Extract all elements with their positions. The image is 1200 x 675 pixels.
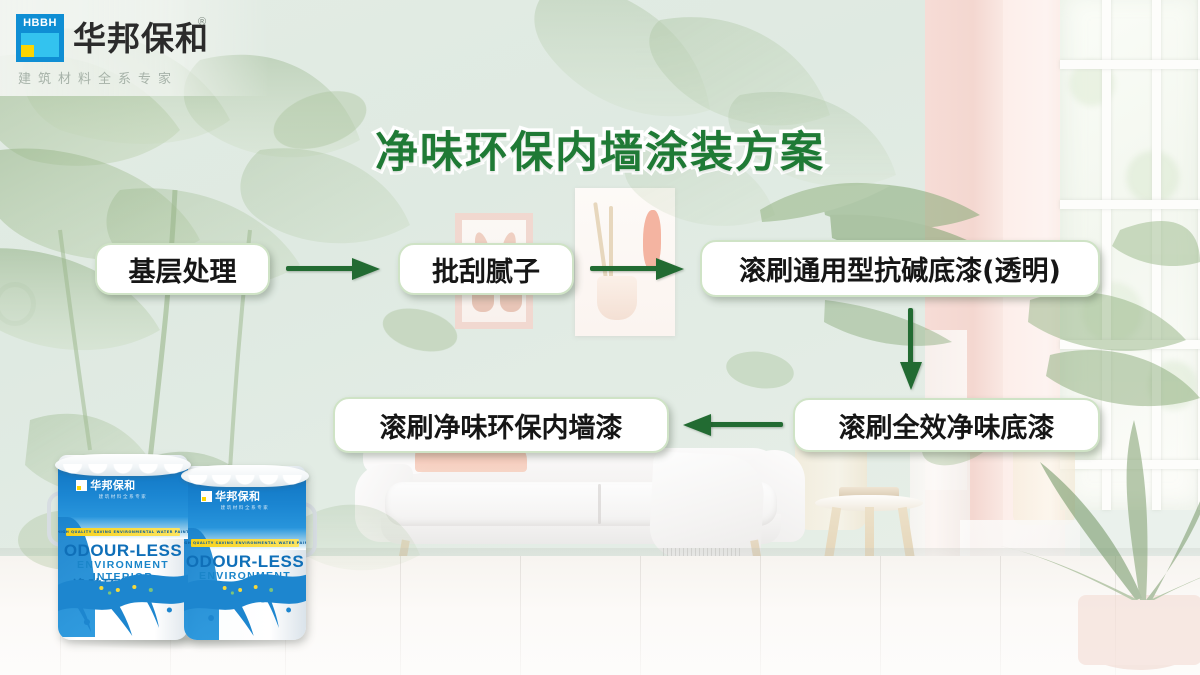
paint-bucket-front: 华邦保和 建筑材料全系专家 HIGH QUALITY SAVING ENVIRO… (58, 455, 188, 640)
bucket-yellow-strip: HIGH QUALITY SAVING ENVIRONMENTAL WATER … (191, 539, 298, 547)
flow-step-alkali-resistant-primer[interactable]: 滚刷通用型抗碱底漆(透明) (700, 240, 1100, 297)
bucket-brand-tagline: 建筑材料全系专家 (184, 505, 306, 511)
flow-step-base-treatment[interactable]: 基层处理 (95, 243, 270, 295)
paint-bucket-back: 华邦保和 建筑材料全系专家 HIGH QUALITY SAVING ENVIRO… (184, 466, 306, 640)
arrow-down-icon (900, 308, 922, 390)
registered-trademark-mark: ® (198, 16, 206, 28)
company-name: 华邦保和 (73, 22, 209, 55)
bucket-splash-graphic (58, 566, 188, 640)
bucket-yellow-strip-text: HIGH QUALITY SAVING ENVIRONMENTAL WATER … (184, 541, 306, 545)
bucket-splash-graphic (184, 566, 306, 640)
brand-logo[interactable]: HBBH 华邦保和 (16, 14, 209, 62)
bucket-product-name-en: ODOUR-LESS (58, 541, 188, 561)
brand-tagline: 建筑材料全系专家 (18, 68, 178, 87)
hbbh-logo-icon: HBBH (16, 14, 64, 62)
bucket-brand-name: 华邦保和 (215, 488, 260, 504)
bucket-brand-tagline: 建筑材料全系专家 (58, 494, 188, 500)
logo-mark-text: HBBH (16, 17, 64, 29)
plant-pot-cream-right (1013, 445, 1075, 525)
arrow-left-icon (683, 414, 783, 436)
flow-step-putty-scraping[interactable]: 批刮腻子 (398, 243, 574, 295)
bucket-yellow-strip-text: HIGH QUALITY SAVING ENVIRONMENTAL WATER … (58, 530, 188, 534)
page-title: 净味环保内墙涂装方案 (0, 118, 1200, 180)
bucket-brand-name: 华邦保和 (90, 477, 135, 493)
bucket-brand-logo: 华邦保和 (76, 477, 135, 493)
bucket-brand-logo: 华邦保和 (201, 488, 260, 504)
flow-step-odourless-primer[interactable]: 滚刷全效净味底漆 (793, 398, 1100, 452)
sofa-throw-blanket (648, 451, 765, 562)
slide-canvas: HBBH 华邦保和 ® 建筑材料全系专家 净味环保内墙涂装方案 基层处理 批刮腻… (0, 0, 1200, 675)
arrow-right-icon (286, 258, 382, 280)
arrow-right-icon (590, 258, 686, 280)
bucket-yellow-strip: HIGH QUALITY SAVING ENVIRONMENTAL WATER … (66, 528, 180, 536)
logo-yellow-block (21, 45, 34, 57)
flow-step-odourless-interior-paint[interactable]: 滚刷净味环保内墙漆 (333, 397, 669, 453)
